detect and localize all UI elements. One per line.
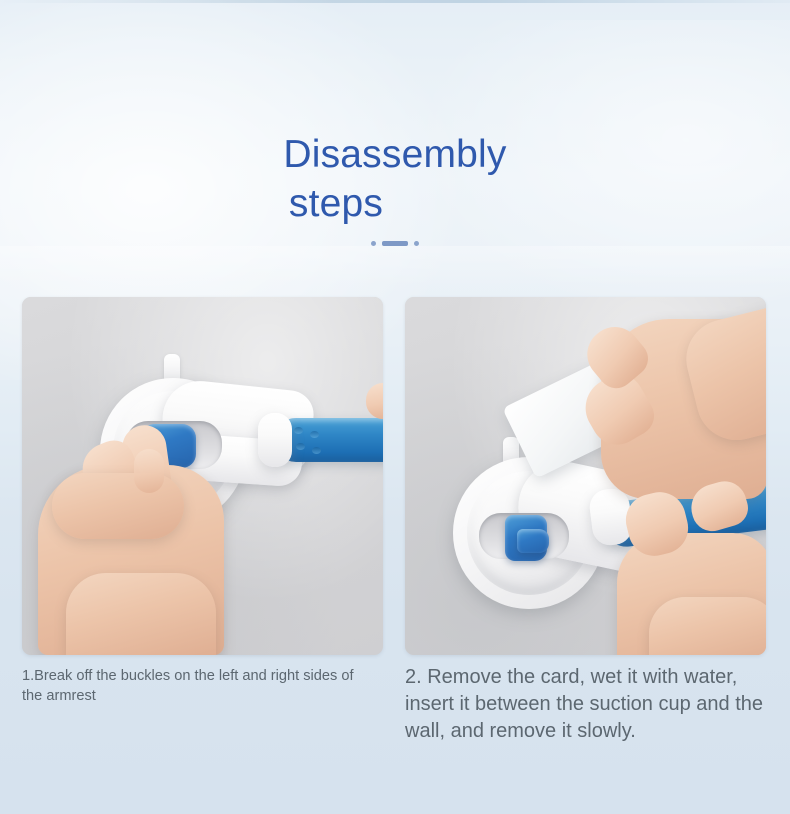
ornament-dot-right	[414, 241, 419, 246]
step-2-photo-remove-card	[405, 297, 766, 655]
page-title: Disassembly steps	[0, 130, 790, 228]
wrist	[66, 573, 216, 655]
handle-grip-dimple	[296, 443, 305, 450]
ornament-bar	[382, 241, 408, 246]
background-band	[0, 246, 790, 288]
lower-hand-wrist	[649, 597, 766, 655]
step-1-caption: 1.Break off the buckles on the left and …	[22, 666, 367, 706]
top-edge-line	[0, 0, 790, 3]
knuckles	[52, 473, 184, 539]
grab-bar-collar	[258, 413, 292, 467]
product-instruction-page: Disassembly steps	[0, 0, 790, 814]
handle-grip-dimple	[312, 447, 321, 454]
page-title-line-1: Disassembly	[0, 130, 790, 179]
ornament-dot-left	[371, 241, 376, 246]
fingertip-highlight	[134, 449, 164, 493]
page-title-line-2: steps	[0, 179, 790, 228]
step-1-photo-break-off-buckles	[22, 297, 383, 655]
handle-grip-dimple	[294, 427, 303, 434]
handle-grip-dimple	[310, 431, 319, 438]
step-photo-row	[22, 297, 770, 655]
dot-dash-dot-ornament	[0, 241, 790, 246]
step-2-caption: 2. Remove the card, wet it with water, i…	[405, 664, 777, 745]
blue-buckle-wing	[517, 529, 549, 553]
